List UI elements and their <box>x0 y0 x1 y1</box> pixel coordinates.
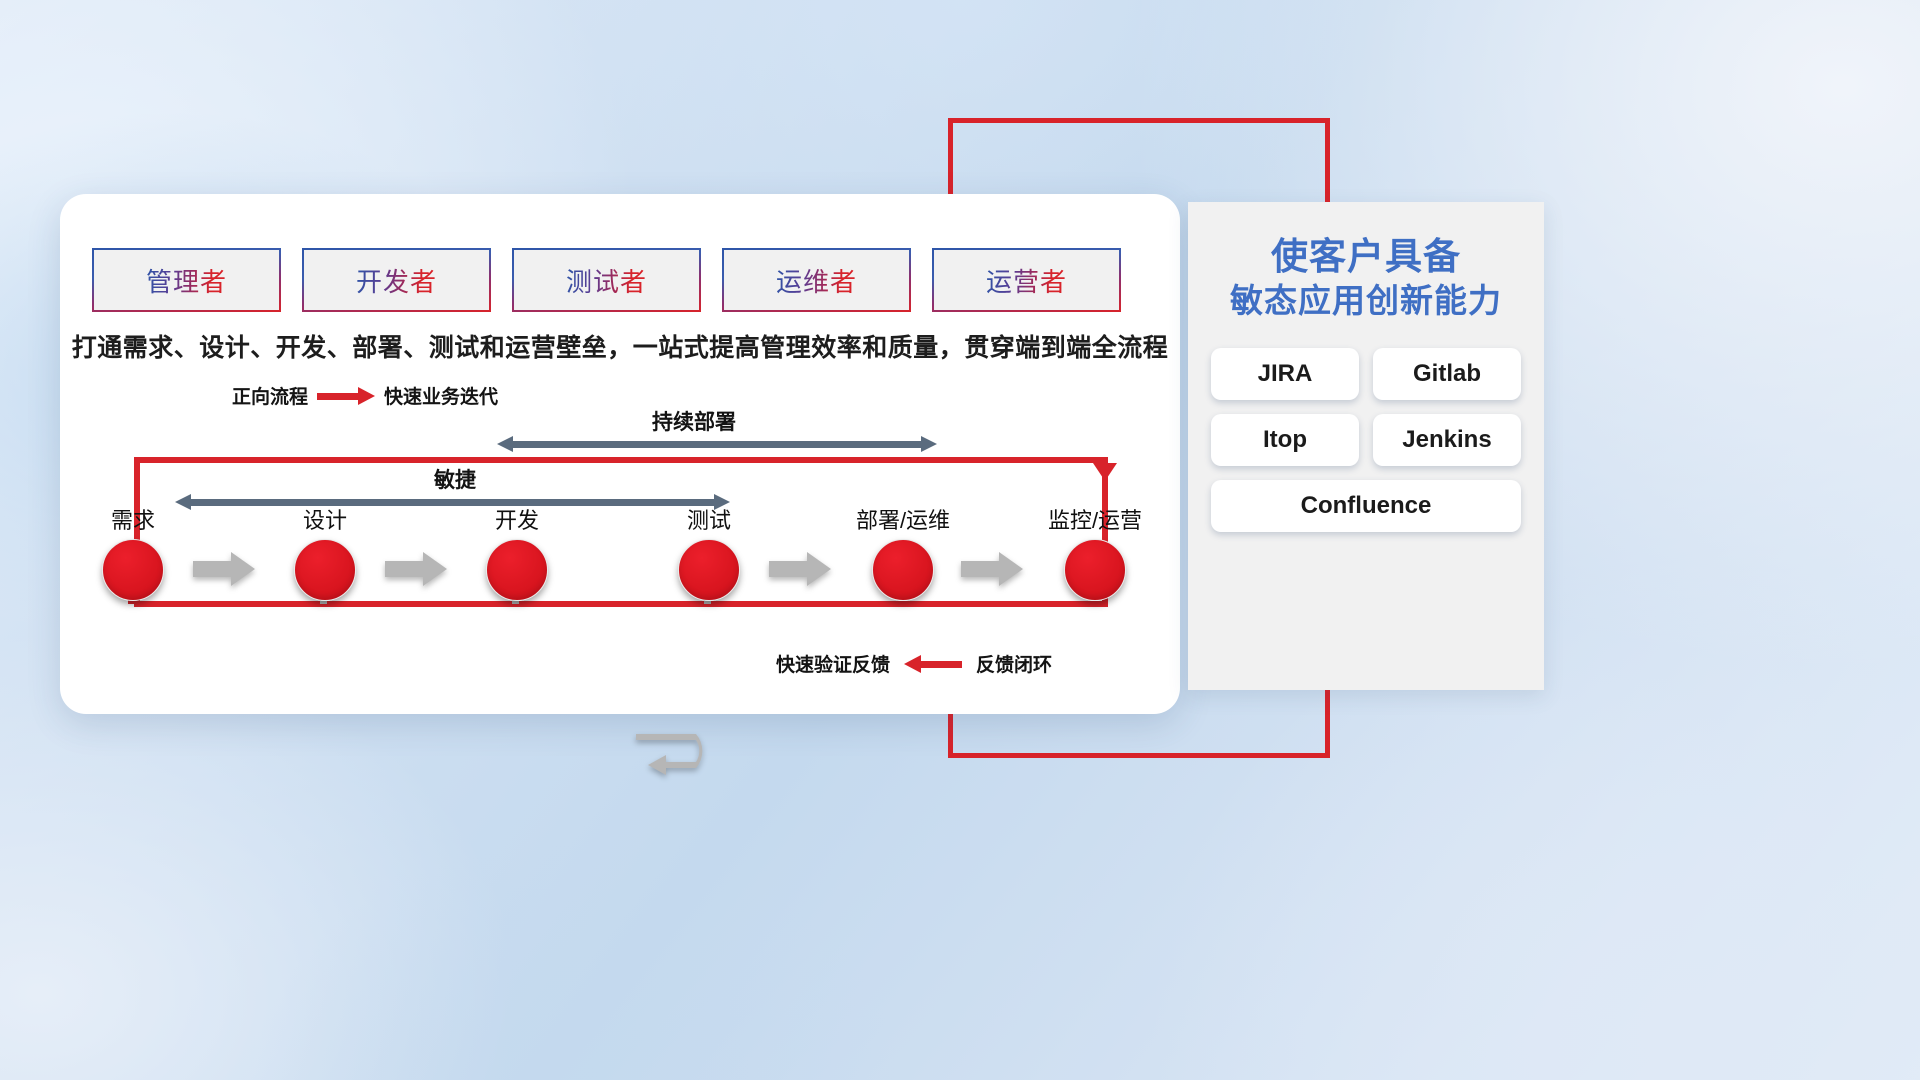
legend-feedback-target-label: 快速验证反馈 <box>776 650 890 677</box>
flow-arrow-deploy-monitor <box>961 552 1023 586</box>
stage-test-label: 测试 <box>687 503 731 535</box>
capability-panel-title: 使客户具备 敏态应用创新能力 <box>1188 202 1544 322</box>
legend-forward-source-label: 正向流程 <box>232 382 308 409</box>
tool-chip-jira[interactable]: JIRA <box>1211 348 1359 400</box>
forward-arrow-icon <box>317 387 375 405</box>
stage-requirement[interactable]: 需求 <box>102 539 164 601</box>
flow-arrow-requirement-design <box>193 552 255 586</box>
span-label-agile: 敏捷 <box>434 464 476 494</box>
stage-requirement-node[interactable] <box>102 539 164 601</box>
stage-deploy-ops[interactable]: 部署/运维 <box>872 539 934 601</box>
stage-design-node[interactable] <box>294 539 356 601</box>
stage-develop-label: 开发 <box>495 503 539 535</box>
role-chip-row: 管理者 开发者 测试者 运维者 运营者 <box>92 248 1121 312</box>
feedback-arrow-icon <box>904 655 962 673</box>
stage-deploy-ops-node[interactable] <box>872 539 934 601</box>
role-chip-developer-label: 开发者 <box>356 262 437 299</box>
role-chip-operations[interactable]: 运营者 <box>932 248 1121 312</box>
stage-design-label: 设计 <box>303 503 347 535</box>
legend-feedback-loop: 快速验证反馈 反馈闭环 <box>776 650 1052 677</box>
span-arrow-agile <box>175 494 730 510</box>
legend-feedback-source-label: 反馈闭环 <box>976 650 1052 677</box>
stage-monitor-operations[interactable]: 监控/运营 <box>1064 539 1126 601</box>
tool-chip-confluence[interactable]: Confluence <box>1211 480 1521 532</box>
outer-frame-top <box>948 118 1330 123</box>
role-chip-developer[interactable]: 开发者 <box>302 248 491 312</box>
role-chip-tester[interactable]: 测试者 <box>512 248 701 312</box>
capability-title-line1: 使客户具备 <box>1188 234 1544 280</box>
stage-test-node[interactable] <box>678 539 740 601</box>
process-loop-top <box>134 457 1108 463</box>
iteration-loop-arrow-icon <box>636 730 728 780</box>
stage-develop-node[interactable] <box>486 539 548 601</box>
role-chip-manager[interactable]: 管理者 <box>92 248 281 312</box>
stage-monitor-operations-label: 监控/运营 <box>1048 503 1142 535</box>
stage-requirement-label: 需求 <box>111 503 155 535</box>
role-chip-operations-label: 运营者 <box>986 262 1067 299</box>
stage-develop[interactable]: 开发 <box>486 539 548 601</box>
legend-forward-target-label: 快速业务迭代 <box>384 382 498 409</box>
tool-chip-jenkins[interactable]: Jenkins <box>1373 414 1521 466</box>
flow-arrow-design-develop <box>385 552 447 586</box>
tool-chip-gitlab[interactable]: Gitlab <box>1373 348 1521 400</box>
stage-monitor-operations-node[interactable] <box>1064 539 1126 601</box>
role-chip-tester-label: 测试者 <box>566 262 647 299</box>
description-text: 打通需求、设计、开发、部署、测试和运营壁垒，一站式提高管理效率和质量，贯穿端到端… <box>60 328 1180 364</box>
role-chip-ops[interactable]: 运维者 <box>722 248 911 312</box>
stage-test[interactable]: 测试 <box>678 539 740 601</box>
legend-forward-flow: 正向流程 快速业务迭代 <box>232 382 498 409</box>
capability-panel: 使客户具备 敏态应用创新能力 JIRA Gitlab Itop Jenkins … <box>1188 202 1544 690</box>
process-loop-arrowhead-down <box>1093 463 1117 481</box>
span-label-continuous-deploy: 持续部署 <box>652 406 736 436</box>
tool-chip-itop[interactable]: Itop <box>1211 414 1359 466</box>
capability-title-line2: 敏态应用创新能力 <box>1188 280 1544 321</box>
role-chip-ops-label: 运维者 <box>776 262 857 299</box>
stage-deploy-ops-label: 部署/运维 <box>856 503 950 535</box>
span-arrow-continuous-deploy <box>497 436 937 452</box>
role-chip-manager-label: 管理者 <box>146 262 227 299</box>
outer-frame-bottom <box>948 753 1330 758</box>
stage-design[interactable]: 设计 <box>294 539 356 601</box>
main-diagram-card: 管理者 开发者 测试者 运维者 运营者 打通需求、设计、开发、部署、测试和运营壁… <box>60 194 1180 714</box>
process-loop-bottom <box>134 601 1108 607</box>
tool-chip-grid: JIRA Gitlab Itop Jenkins Confluence <box>1200 348 1532 532</box>
flow-arrow-test-deploy <box>769 552 831 586</box>
